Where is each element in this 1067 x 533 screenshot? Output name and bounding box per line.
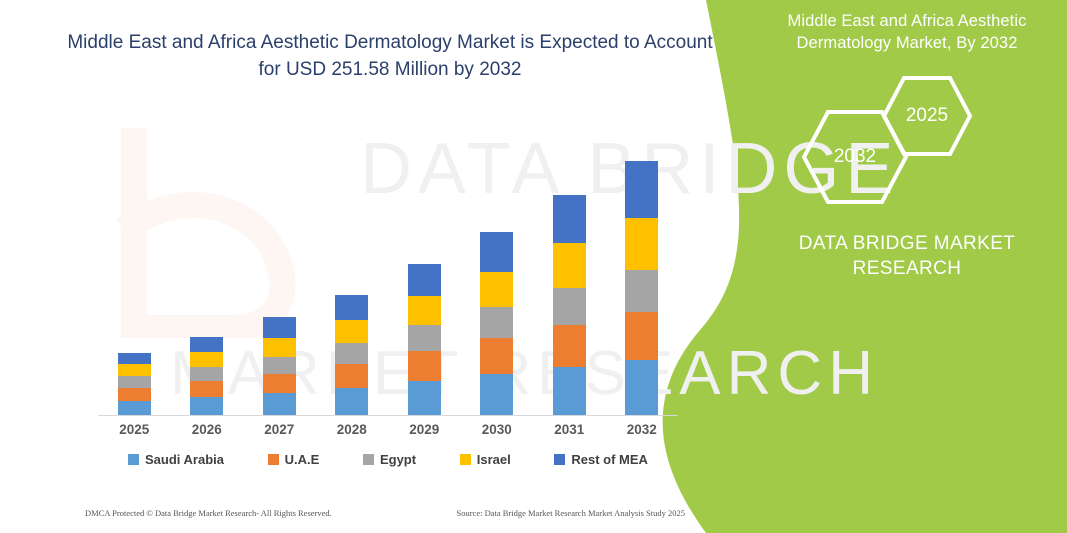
legend-item[interactable]: Egypt xyxy=(363,452,416,467)
bar-column xyxy=(394,120,454,415)
footer: DMCA Protected © Data Bridge Market Rese… xyxy=(85,508,685,518)
chart-title: Middle East and Africa Aesthetic Dermato… xyxy=(60,30,720,84)
legend-item[interactable]: Israel xyxy=(460,452,511,467)
bar-segment xyxy=(625,270,658,312)
bar-segment xyxy=(190,381,223,397)
axis-baseline xyxy=(98,415,678,416)
bar-segment xyxy=(625,312,658,360)
legend-swatch xyxy=(128,454,139,465)
bar-column xyxy=(612,120,672,415)
bar-segment xyxy=(335,320,368,343)
stacked-bar xyxy=(263,317,296,415)
chart-legend: Saudi ArabiaU.A.EEgyptIsraelRest of MEA xyxy=(98,452,678,467)
bar-column xyxy=(177,120,237,415)
legend-swatch xyxy=(268,454,279,465)
hexagon-group: 2032 2025 xyxy=(797,75,1017,205)
legend-swatch xyxy=(554,454,565,465)
bar-segment xyxy=(553,288,586,325)
bar-segment xyxy=(480,272,513,307)
stacked-bar xyxy=(118,353,151,415)
bar-segment xyxy=(190,367,223,381)
hexagon-2025-label: 2025 xyxy=(906,105,948,127)
green-panel-content: Middle East and Africa Aesthetic Dermato… xyxy=(747,0,1067,533)
legend-label: Egypt xyxy=(380,452,416,467)
stacked-bar xyxy=(335,295,368,415)
bar-segment xyxy=(625,360,658,415)
bar-segment xyxy=(408,325,441,351)
bar-segment xyxy=(480,338,513,374)
bar-segment xyxy=(118,376,151,388)
bar-segment xyxy=(408,264,441,296)
panel-title: Middle East and Africa Aesthetic Dermato… xyxy=(757,10,1057,55)
footer-left-text: DMCA Protected © Data Bridge Market Rese… xyxy=(85,508,332,518)
bar-segment xyxy=(553,367,586,415)
bar-column xyxy=(249,120,309,415)
bar-segment xyxy=(335,388,368,415)
x-axis-tick: 2030 xyxy=(467,422,527,437)
bar-segment xyxy=(335,343,368,364)
x-axis-tick: 2032 xyxy=(612,422,672,437)
bar-segment xyxy=(263,393,296,415)
legend-label: Rest of MEA xyxy=(571,452,648,467)
bar-column xyxy=(104,120,164,415)
bar-segment xyxy=(118,364,151,376)
brand-line-2: RESEARCH xyxy=(767,256,1047,282)
bar-segment xyxy=(553,195,586,243)
bar-group xyxy=(98,120,678,415)
bar-segment xyxy=(480,307,513,338)
legend-item[interactable]: Saudi Arabia xyxy=(128,452,224,467)
hexagon-2025: 2025 xyxy=(881,75,973,157)
bar-segment xyxy=(263,374,296,393)
stacked-bar xyxy=(553,195,586,415)
bar-segment xyxy=(190,397,223,415)
bar-segment xyxy=(335,295,368,320)
stacked-bar xyxy=(480,232,513,415)
bar-segment xyxy=(408,296,441,325)
hexagon-2032-label: 2032 xyxy=(834,146,876,168)
brand-line-1: DATA BRIDGE MARKET xyxy=(767,231,1047,257)
bar-segment xyxy=(190,337,223,352)
bar-segment xyxy=(263,317,296,338)
x-axis-tick: 2028 xyxy=(322,422,382,437)
legend-item[interactable]: U.A.E xyxy=(268,452,320,467)
x-axis-tick: 2031 xyxy=(539,422,599,437)
stacked-bar xyxy=(625,161,658,415)
legend-swatch xyxy=(460,454,471,465)
bar-segment xyxy=(480,374,513,415)
stacked-bar xyxy=(190,337,223,415)
x-axis-tick: 2027 xyxy=(249,422,309,437)
bar-column xyxy=(322,120,382,415)
plot-region xyxy=(98,120,678,416)
bar-segment xyxy=(190,352,223,367)
x-axis-tick: 2026 xyxy=(177,422,237,437)
chart-area: Middle East and Africa Aesthetic Dermato… xyxy=(0,0,710,533)
bar-column xyxy=(539,120,599,415)
bar-segment xyxy=(408,351,441,381)
x-axis-tick: 2025 xyxy=(104,422,164,437)
bar-segment xyxy=(118,353,151,364)
legend-label: Israel xyxy=(477,452,511,467)
bar-segment xyxy=(263,357,296,374)
stacked-bar xyxy=(408,264,441,415)
bar-segment xyxy=(625,218,658,270)
x-axis-tick: 2029 xyxy=(394,422,454,437)
bar-segment xyxy=(553,243,586,288)
bar-segment xyxy=(263,338,296,357)
legend-label: U.A.E xyxy=(285,452,320,467)
bar-segment xyxy=(118,401,151,415)
brand-name: DATA BRIDGE MARKET RESEARCH xyxy=(767,231,1047,282)
bar-segment xyxy=(480,232,513,272)
x-axis-labels: 20252026202720282029203020312032 xyxy=(98,422,678,437)
legend-swatch xyxy=(363,454,374,465)
footer-right-text: Source: Data Bridge Market Research Mark… xyxy=(456,508,685,518)
bar-segment xyxy=(118,388,151,401)
bar-segment xyxy=(625,161,658,218)
infographic-root: Middle East and Africa Aesthetic Dermato… xyxy=(0,0,1067,533)
bar-segment xyxy=(553,325,586,367)
bar-column xyxy=(467,120,527,415)
legend-label: Saudi Arabia xyxy=(145,452,224,467)
bar-segment xyxy=(335,364,368,388)
legend-item[interactable]: Rest of MEA xyxy=(554,452,648,467)
bar-segment xyxy=(408,381,441,415)
